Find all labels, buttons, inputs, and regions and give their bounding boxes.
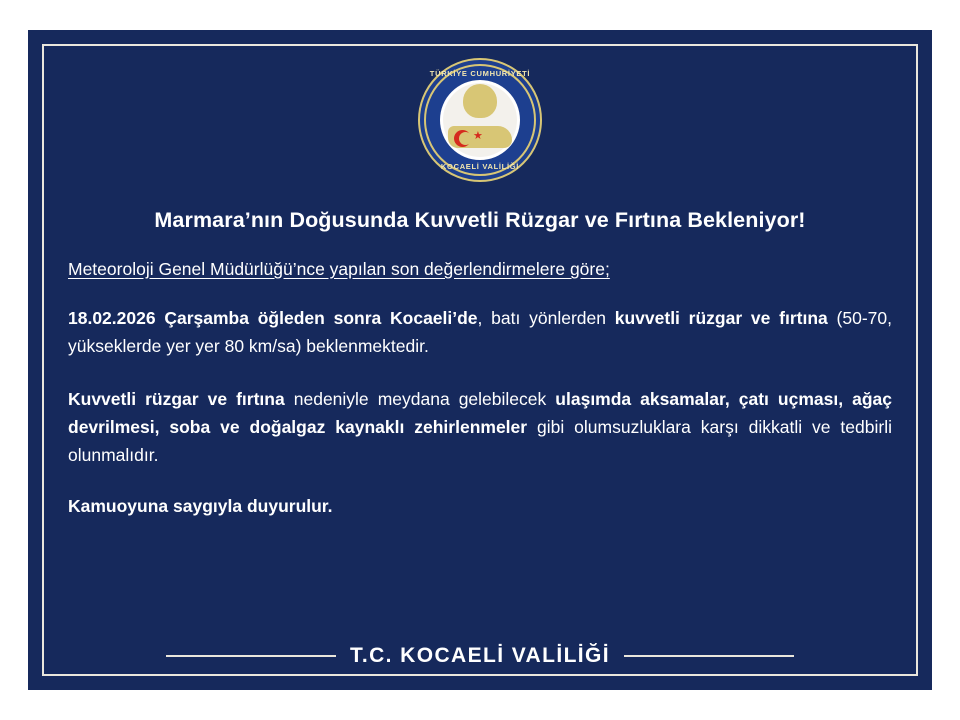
paragraph-forecast-bold-2: kuvvetli rüzgar ve fırtına [615, 308, 828, 328]
paragraph-forecast: 18.02.2026 Çarşamba öğleden sonra Kocael… [68, 304, 892, 361]
paragraph-forecast-bold-1: 18.02.2026 Çarşamba öğleden sonra Kocael… [68, 308, 478, 328]
paragraph-warning-text-1: nedeniyle meydana gelebilecek [285, 389, 556, 409]
lead-paragraph: Meteoroloji Genel Müdürlüğü’nce yapılan … [68, 259, 892, 280]
closing-statement: Kamuoyuna saygıyla duyurulur. [68, 496, 892, 517]
emblem-bottom-text: KOCAELİ VALİLİĞİ [418, 162, 542, 171]
paragraph-forecast-text-1: , batı yönlerden [478, 308, 615, 328]
poster-footer: T.C. KOCAELİ VALİLİĞİ [68, 644, 892, 668]
footer-title: T.C. KOCAELİ VALİLİĞİ [350, 644, 610, 668]
star-icon: ★ [473, 131, 483, 142]
emblem-core: ★ [440, 80, 520, 160]
footer-rule-left [166, 655, 336, 657]
crescent-icon [454, 130, 471, 147]
announcement-poster: TÜRKİYE CUMHURİYETİ KOCAELİ VALİLİĞİ ★ M… [28, 30, 932, 690]
emblem-top-text: TÜRKİYE CUMHURİYETİ [418, 69, 542, 78]
kocaeli-governorship-emblem-icon: TÜRKİYE CUMHURİYETİ KOCAELİ VALİLİĞİ ★ [418, 58, 542, 182]
page-title: Marmara’nın Doğusunda Kuvvetli Rüzgar ve… [68, 208, 892, 233]
footer-rule-right [624, 655, 794, 657]
emblem-container: TÜRKİYE CUMHURİYETİ KOCAELİ VALİLİĞİ ★ [68, 58, 892, 182]
poster-content: TÜRKİYE CUMHURİYETİ KOCAELİ VALİLİĞİ ★ M… [68, 50, 892, 670]
ataturk-silhouette-icon [463, 84, 497, 118]
paragraph-warning: Kuvvetli rüzgar ve fırtına nedeniyle mey… [68, 385, 892, 470]
paragraph-warning-bold-1: Kuvvetli rüzgar ve fırtına [68, 389, 285, 409]
